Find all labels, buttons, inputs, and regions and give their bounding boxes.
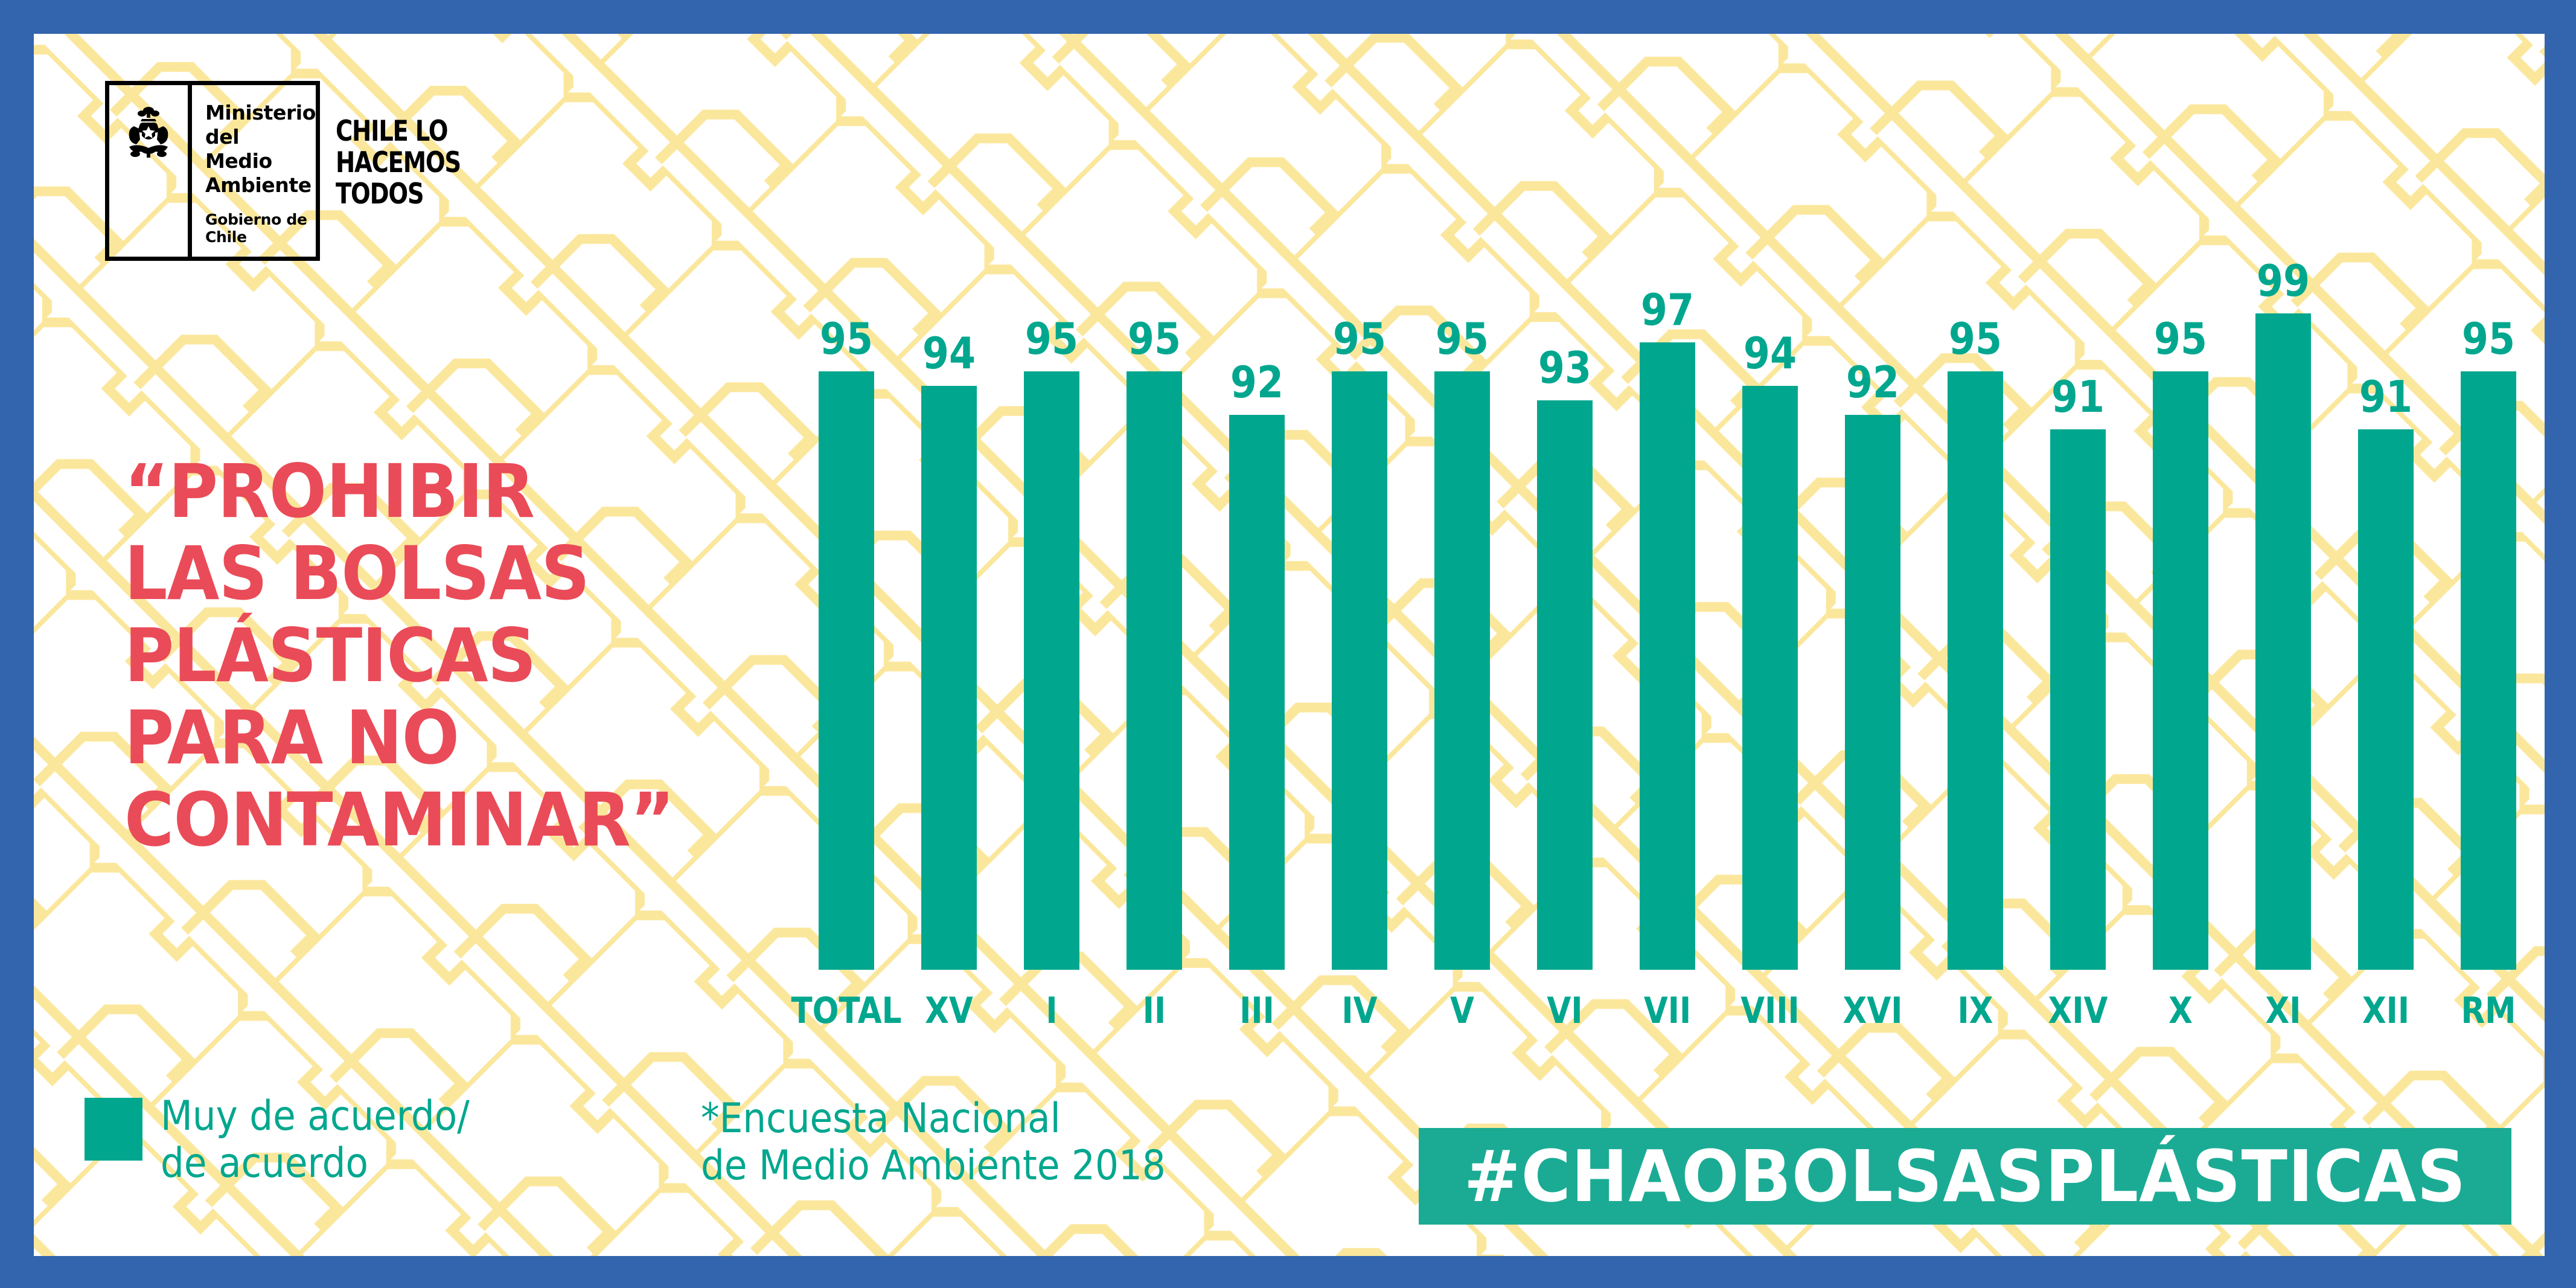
bar-category-label: IV bbox=[1341, 993, 1377, 1029]
bar-column: 91XII bbox=[2358, 263, 2414, 970]
coat-of-arms-cell bbox=[109, 85, 192, 257]
bar bbox=[2050, 429, 2106, 970]
bar-value-label: 92 bbox=[1230, 360, 1283, 404]
bar bbox=[1127, 371, 1182, 970]
bar-column: 95V bbox=[1434, 263, 1490, 970]
bar-category-label: X bbox=[2169, 993, 2193, 1029]
bar bbox=[1640, 342, 1695, 970]
bar-column: 95TOTAL bbox=[819, 263, 874, 970]
bar-column: 95I bbox=[1024, 263, 1079, 970]
bar-category-label: TOTAL bbox=[791, 993, 901, 1029]
ministry-line-1: Ministerio del bbox=[205, 101, 316, 149]
bar-value-label: 94 bbox=[1743, 332, 1797, 375]
bar-column: 92XVI bbox=[1845, 263, 1900, 970]
bar-category-label: VII bbox=[1644, 993, 1691, 1029]
bar-column: 95X bbox=[2153, 263, 2208, 970]
bar-category-label: IX bbox=[1958, 993, 1993, 1029]
legend-color-swatch bbox=[85, 1098, 142, 1161]
bar-column: 95IV bbox=[1332, 263, 1387, 970]
ministry-line-3: Ambiente bbox=[205, 173, 316, 197]
bar-value-label: 95 bbox=[1436, 317, 1489, 360]
bar-category-label: III bbox=[1239, 993, 1274, 1029]
bar-value-label: 97 bbox=[1641, 288, 1694, 332]
bar-category-label: VI bbox=[1547, 993, 1582, 1029]
bar bbox=[921, 386, 977, 970]
bar-category-label: I bbox=[1046, 993, 1057, 1029]
campaign-tagline: CHILE LO HACEMOS TODOS bbox=[336, 116, 461, 210]
bar-column: 97VII bbox=[1640, 263, 1695, 970]
chile-coat-of-arms-icon bbox=[122, 106, 175, 161]
bar bbox=[1229, 415, 1285, 970]
bar-value-label: 95 bbox=[1333, 317, 1386, 360]
bar-category-label: XVI bbox=[1843, 993, 1903, 1029]
bar-column: 93VI bbox=[1537, 263, 1593, 970]
bar bbox=[2153, 371, 2208, 970]
bar bbox=[1948, 371, 2003, 970]
bar-category-label: XII bbox=[2362, 993, 2409, 1029]
bar bbox=[1537, 400, 1593, 970]
bar-value-label: 95 bbox=[1128, 317, 1181, 360]
bar-column: 91XIV bbox=[2050, 263, 2106, 970]
hashtag-banner: #CHAOBOLSASPLÁSTICAS bbox=[1419, 1128, 2511, 1225]
bar bbox=[2358, 429, 2414, 970]
ministry-line-2: Medio bbox=[205, 149, 316, 173]
bar-value-label: 92 bbox=[1846, 360, 1899, 404]
bar-value-label: 91 bbox=[2359, 375, 2412, 418]
bar-column: 94XV bbox=[921, 263, 977, 970]
bar-value-label: 99 bbox=[2257, 259, 2310, 303]
bar-value-label: 95 bbox=[2462, 317, 2515, 360]
bar-category-label: II bbox=[1143, 993, 1166, 1029]
bar-value-label: 95 bbox=[1025, 317, 1078, 360]
bar-category-label: XV bbox=[925, 993, 973, 1029]
bar-category-label: XIV bbox=[2048, 993, 2108, 1029]
bar-column: 95II bbox=[1127, 263, 1182, 970]
legend-label: Muy de acuerdo/ de acuerdo bbox=[161, 1093, 470, 1187]
poster-card: Ministerio del Medio Ambiente Gobierno d… bbox=[34, 34, 2545, 1256]
bar-category-label: VIII bbox=[1740, 993, 1800, 1029]
bar-value-label: 93 bbox=[1538, 346, 1591, 389]
bar-value-label: 91 bbox=[2051, 375, 2105, 418]
bar bbox=[2255, 313, 2311, 970]
source-note: *Encuesta Nacional de Medio Ambiente 201… bbox=[701, 1095, 1166, 1190]
bar-value-label: 95 bbox=[820, 317, 873, 360]
chart-plot-area: 95TOTAL94XV95I95II92III95IV95V93VI97VII9… bbox=[819, 263, 2527, 970]
headline-quote: “PROHIBIR LAS BOLSAS PLÁSTICAS PARA NO C… bbox=[124, 450, 763, 861]
ministry-logo: Ministerio del Medio Ambiente Gobierno d… bbox=[105, 81, 320, 261]
bar bbox=[1845, 415, 1900, 970]
chart-legend: Muy de acuerdo/ de acuerdo bbox=[85, 1093, 504, 1187]
bar bbox=[1332, 371, 1387, 970]
bar-column: 95RM bbox=[2461, 263, 2516, 970]
bar-category-label: XI bbox=[2266, 993, 2301, 1029]
bar-value-label: 94 bbox=[922, 332, 976, 375]
bar bbox=[2461, 371, 2516, 970]
bar-category-label: V bbox=[1450, 993, 1474, 1029]
bar-value-label: 95 bbox=[1949, 317, 2002, 360]
government-label: Gobierno de Chile bbox=[205, 211, 316, 246]
bar-chart: 95TOTAL94XV95I95II92III95IV95V93VI97VII9… bbox=[819, 263, 2527, 1048]
bar bbox=[1024, 371, 1079, 970]
hashtag-label: #CHAOBOLSASPLÁSTICAS bbox=[1464, 1141, 2466, 1212]
bar bbox=[1742, 386, 1798, 970]
bar-column: 99XI bbox=[2255, 263, 2311, 970]
ministry-name-cell: Ministerio del Medio Ambiente Gobierno d… bbox=[192, 85, 316, 257]
bar bbox=[1434, 371, 1490, 970]
bar bbox=[819, 371, 874, 970]
bar-column: 94VIII bbox=[1742, 263, 1798, 970]
bar-column: 95IX bbox=[1948, 263, 2003, 970]
infographic-poster: Ministerio del Medio Ambiente Gobierno d… bbox=[0, 0, 2576, 1288]
bar-value-label: 95 bbox=[2154, 317, 2207, 360]
bar-column: 92III bbox=[1229, 263, 1285, 970]
bar-category-label: RM bbox=[2461, 993, 2516, 1029]
